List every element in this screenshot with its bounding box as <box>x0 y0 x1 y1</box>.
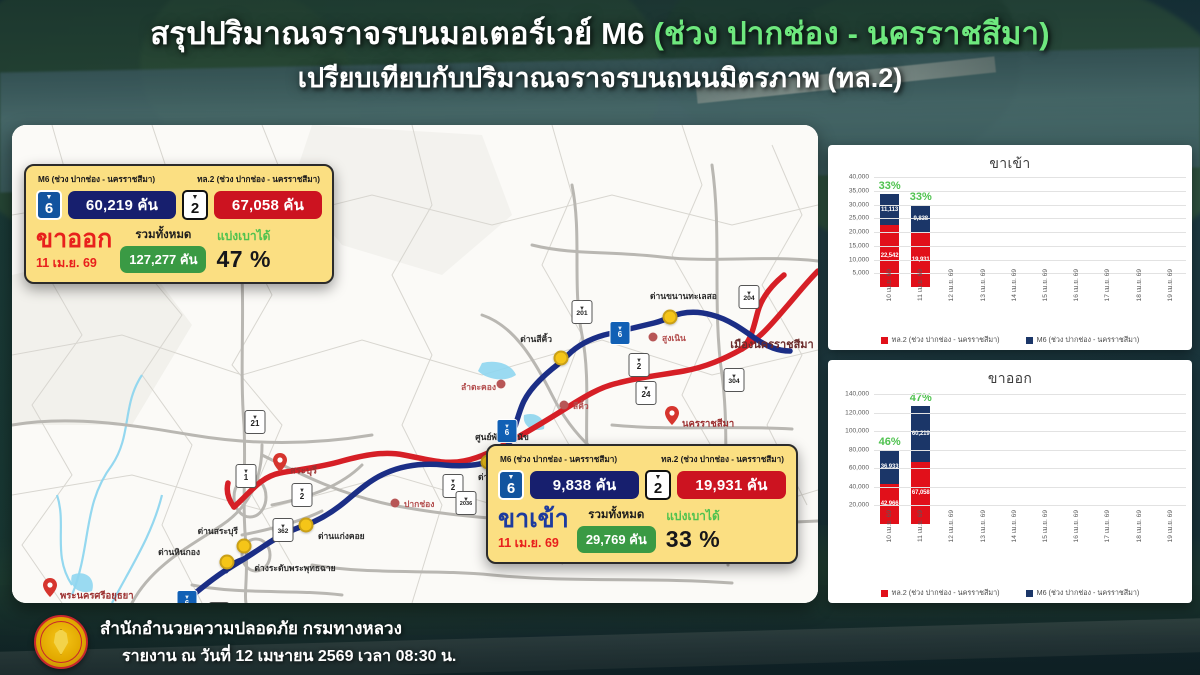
legend-label: M6 (ช่วง ปากช่อง - นครราชสีมา) <box>1037 588 1140 599</box>
y-tick-label: 25,000 <box>849 215 869 222</box>
y-tick-label: 5,000 <box>852 270 869 277</box>
y-tick-label: 10,000 <box>849 256 869 263</box>
route-shield-1: ▼1 <box>236 464 257 488</box>
y-tick-label: 40,000 <box>849 483 869 490</box>
x-tick-label: 15 เม.ย. 69 <box>1036 510 1055 547</box>
legend-item-h2: ทล.2 (ช่วง ปากช่อง - นครราชสีมา) <box>881 335 1000 346</box>
page-title: สรุปปริมาณจราจรบนมอเตอร์เวย์ M6 (ช่วง ปา… <box>0 14 1200 55</box>
agency-name: สำนักอำนวยความปลอดภัย กรมทางหลวง <box>100 615 456 642</box>
x-tick-label: 18 เม.ย. 69 <box>1130 269 1149 306</box>
outbound-chart-panel[interactable]: ขาออก 20,00040,00060,00080,000100,000120… <box>828 360 1192 603</box>
card-head-h2: ทล.2 (ช่วง ปากช่อง - นครราชสีมา) <box>197 173 320 186</box>
y-tick-label: 60,000 <box>849 465 869 472</box>
y-tick-label: 30,000 <box>849 201 869 208</box>
bar-value-label: 11,113 <box>881 207 898 213</box>
relief-label: แบ่งเบาได้ <box>666 507 720 526</box>
gridline <box>874 468 1186 469</box>
toll-node[interactable] <box>299 518 314 533</box>
toll-node[interactable] <box>554 351 569 366</box>
legend-swatch-red <box>881 337 888 344</box>
x-tick-label: 17 เม.ย. 69 <box>1099 269 1118 306</box>
direction-date: 11 เม.ย. 69 <box>36 253 112 273</box>
page-header: สรุปปริมาณจราจรบนมอเตอร์เวย์ M6 (ช่วง ปา… <box>0 14 1200 97</box>
direction-label: ขาเข้า <box>498 507 569 533</box>
route-shield-201: ▼201 <box>572 300 593 324</box>
x-tick-label: 16 เม.ย. 69 <box>1067 510 1086 547</box>
legend-swatch-red <box>881 590 888 597</box>
relief-value: 33 % <box>666 526 720 553</box>
gridline <box>874 232 1186 233</box>
y-tick-label: 15,000 <box>849 242 869 249</box>
route-shield-2036: ▼2036 <box>456 491 477 515</box>
city-label: ปากช่อง <box>404 497 434 511</box>
title-accent: (ช่วง ปากช่อง - นครราชสีมา) <box>653 16 1049 51</box>
x-tick-label: 11 เม.ย. 69 <box>911 269 930 306</box>
gridline <box>874 191 1186 192</box>
report-timestamp: รายงาน ณ วันที่ 12 เมษายน 2569 เวลา 08:3… <box>100 644 456 669</box>
total-value: 29,769 คัน <box>577 526 656 553</box>
toll-node[interactable] <box>663 310 678 325</box>
city-dot <box>560 401 569 410</box>
y-tick-label: 140,000 <box>845 391 869 398</box>
gridline <box>874 431 1186 432</box>
title-main: สรุปปริมาณจราจรบนมอเตอร์เวย์ M6 <box>150 16 653 51</box>
bar-percent-annotation: 33% <box>910 191 932 203</box>
legend-label: M6 (ช่วง ปากช่อง - นครราชสีมา) <box>1037 335 1140 346</box>
m6-shield-icon: ▼6 <box>498 470 524 500</box>
route-shield-204: ▼204 <box>739 285 760 309</box>
gridline <box>874 505 1186 506</box>
chart-title: ขาออก <box>828 360 1192 390</box>
y-axis: 20,00040,00060,00080,000100,000120,00014… <box>828 394 872 524</box>
y-tick-label: 20,000 <box>849 229 869 236</box>
direction-block: ขาเข้า 11 เม.ย. 69 <box>498 507 569 554</box>
map-pin-icon[interactable] <box>273 453 287 477</box>
y-tick-label: 35,000 <box>849 187 869 194</box>
h2-shield-icon: ▼2 <box>645 470 671 500</box>
toll-label: ด่านขนานทะเลสอ <box>650 289 717 303</box>
x-tick-label: 18 เม.ย. 69 <box>1130 510 1149 547</box>
x-tick-label: 19 เม.ย. 69 <box>1161 269 1180 306</box>
gridline <box>874 218 1186 219</box>
city-dot <box>497 380 506 389</box>
legend-swatch-navy <box>1026 590 1033 597</box>
x-tick-label: 13 เม.ย. 69 <box>974 510 993 547</box>
total-label: รวมทั้งหมด <box>120 226 206 244</box>
m6-shield-icon: ▼6 <box>36 190 62 220</box>
toll-node[interactable] <box>237 539 252 554</box>
x-tick-label: 15 เม.ย. 69 <box>1036 269 1055 306</box>
pin-label: พระนครศรีอยุธยา <box>60 589 134 604</box>
total-block: รวมทั้งหมด 29,769 คัน <box>577 506 656 553</box>
route-shield-304: ▼304 <box>724 368 745 392</box>
gridline <box>874 260 1186 261</box>
h2-volume-value: 19,931 คัน <box>677 471 786 499</box>
pin-label: นครราชสีมา <box>682 417 734 432</box>
toll-label: ด่านสระบุรี <box>198 524 238 538</box>
korat-city-label: เมืองนครราชสีมา <box>730 335 813 353</box>
legend-swatch-navy <box>1026 337 1033 344</box>
toll-node[interactable] <box>220 555 235 570</box>
gridline <box>874 450 1186 451</box>
chart-title: ขาเข้า <box>828 145 1192 175</box>
card-header: M6 (ช่วง ปากช่อง - นครราชสีมา) ทล.2 (ช่ว… <box>498 453 786 470</box>
gridline <box>874 246 1186 247</box>
footer-text-block: สำนักอำนวยความปลอดภัย กรมทางหลวง รายงาน … <box>100 615 456 669</box>
m6-volume-value: 60,219 คัน <box>68 191 176 219</box>
route-shield-24: ▼24 <box>636 381 657 405</box>
inbound-summary-card: M6 (ช่วง ปากช่อง - นครราชสีมา) ทล.2 (ช่ว… <box>486 444 798 564</box>
x-tick-label: 10 เม.ย. 69 <box>880 510 899 547</box>
h2-volume-value: 67,058 คัน <box>214 191 322 219</box>
bar-segment-m6: 36,933 <box>880 450 899 484</box>
map-pin-icon[interactable] <box>665 406 679 430</box>
x-tick-label: 19 เม.ย. 69 <box>1161 510 1180 547</box>
y-tick-label: 100,000 <box>845 428 869 435</box>
legend-label: ทล.2 (ช่วง ปากช่อง - นครราชสีมา) <box>892 335 1000 346</box>
y-tick-label: 80,000 <box>849 446 869 453</box>
city-dot <box>649 333 658 342</box>
page-subtitle: เปรียบเทียบกับปริมาณจราจรบนถนนมิตรภาพ (ท… <box>0 61 1200 97</box>
legend-item-h2: ทล.2 (ช่วง ปากช่อง - นครราชสีมา) <box>881 588 1000 599</box>
x-tick-label: 12 เม.ย. 69 <box>943 269 962 306</box>
route-shield-m6: ▼6 <box>497 419 518 443</box>
gridline <box>874 205 1186 206</box>
x-tick-label: 11 เม.ย. 69 <box>911 510 930 547</box>
x-tick-label: 16 เม.ย. 69 <box>1067 269 1086 306</box>
gridline <box>874 487 1186 488</box>
map-pin-icon[interactable] <box>43 578 57 602</box>
x-tick-label: 14 เม.ย. 69 <box>1005 269 1024 306</box>
total-label: รวมทั้งหมด <box>577 506 656 524</box>
interchange-label: ต่างระดับพระพุทธฉาย <box>254 561 335 575</box>
gridline <box>874 394 1186 395</box>
m6-volume-value: 9,838 คัน <box>530 471 639 499</box>
y-tick-label: 120,000 <box>845 409 869 416</box>
relief-block: แบ่งเบาได้ 47 % <box>216 227 270 273</box>
legend-label: ทล.2 (ช่วง ปากช่อง - นครราชสีมา) <box>892 588 1000 599</box>
chart-legend: ทล.2 (ช่วง ปากช่อง - นครราชสีมา) M6 (ช่ว… <box>828 335 1192 346</box>
card-head-m6: M6 (ช่วง ปากช่อง - นครราชสีมา) <box>38 173 155 186</box>
relief-value: 47 % <box>216 246 270 273</box>
outbound-summary-card: M6 (ช่วง ปากช่อง - นครราชสีมา) ทล.2 (ช่ว… <box>24 164 334 284</box>
legend-item-m6: M6 (ช่วง ปากช่อง - นครราชสีมา) <box>1026 588 1140 599</box>
direction-block: ขาออก 11 เม.ย. 69 <box>36 227 112 274</box>
legend-item-m6: M6 (ช่วง ปากช่อง - นครราชสีมา) <box>1026 335 1140 346</box>
route-shield-1: ▼1 <box>209 602 230 603</box>
gridline <box>874 413 1186 414</box>
bar-segment-m6: 11,113 <box>880 194 899 225</box>
y-axis: 5,00010,00015,00020,00025,00030,00035,00… <box>828 177 872 287</box>
bar-value-label: 67,058 <box>912 490 930 496</box>
y-tick-label: 20,000 <box>849 502 869 509</box>
page-footer: สำนักอำนวยความปลอดภัย กรมทางหลวง รายงาน … <box>0 615 1200 669</box>
y-tick-label: 40,000 <box>849 174 869 181</box>
city-label: สีคิ้ว <box>573 399 589 413</box>
card-bottom-row: ขาออก 11 เม.ย. 69 รวมทั้งหมด 127,277 คัน… <box>36 226 322 273</box>
route-shield-m6: ▼6 <box>610 321 631 345</box>
direction-date: 11 เม.ย. 69 <box>498 533 569 553</box>
route-shield-2: ▼2 <box>629 353 650 377</box>
x-tick-label: 12 เม.ย. 69 <box>943 510 962 547</box>
pin-label: สระบุรี <box>290 464 317 479</box>
card-value-row: ▼6 60,219 คัน ▼2 67,058 คัน <box>36 190 322 220</box>
relief-block: แบ่งเบาได้ 33 % <box>666 507 720 553</box>
route-shield-2: ▼2 <box>292 483 313 507</box>
total-value: 127,277 คัน <box>120 246 206 273</box>
h2-shield-icon: ▼2 <box>182 190 208 220</box>
card-value-row: ▼6 9,838 คัน ▼2 19,931 คัน <box>498 470 786 500</box>
card-head-h2: ทล.2 (ช่วง ปากช่อง - นครราชสีมา) <box>661 453 784 466</box>
x-tick-label: 13 เม.ย. 69 <box>974 269 993 306</box>
route-shield-21: ▼21 <box>245 410 266 434</box>
direction-label: ขาออก <box>36 227 112 253</box>
relief-label: แบ่งเบาได้ <box>216 227 270 246</box>
gridline <box>874 177 1186 178</box>
card-header: M6 (ช่วง ปากช่อง - นครราชสีมา) ทล.2 (ช่ว… <box>36 173 322 190</box>
dept-seal-icon <box>34 615 88 669</box>
x-tick-label: 10 เม.ย. 69 <box>880 269 899 306</box>
bar-percent-annotation: 46% <box>879 436 901 448</box>
x-tick-label: 14 เม.ย. 69 <box>1005 510 1024 547</box>
toll-label: ด่านหินกอง <box>158 545 200 559</box>
route-shield-362: ▼362 <box>273 518 294 542</box>
route-shield-m6: ▼6 <box>177 590 198 603</box>
inbound-chart-panel[interactable]: ขาเข้า 5,00010,00015,00020,00025,00030,0… <box>828 145 1192 350</box>
x-tick-label: 17 เม.ย. 69 <box>1099 510 1118 547</box>
city-label: สูงเนิน <box>662 331 686 345</box>
toll-label: ด่านแก่งคอย <box>318 529 365 543</box>
x-axis: 10 เม.ย. 6911 เม.ย. 6912 เม.ย. 6913 เม.ย… <box>874 269 1186 331</box>
x-axis: 10 เม.ย. 6911 เม.ย. 6912 เม.ย. 6913 เม.ย… <box>874 510 1186 572</box>
card-bottom-row: ขาเข้า 11 เม.ย. 69 รวมทั้งหมด 29,769 คัน… <box>498 506 786 553</box>
city-dot <box>391 499 400 508</box>
toll-label: ด่านสีคิ้ว <box>520 332 552 346</box>
card-head-m6: M6 (ช่วง ปากช่อง - นครราชสีมา) <box>500 453 617 466</box>
bar-segment-m6: 60,219 <box>911 406 930 462</box>
city-label: ลำตะคอง <box>461 380 496 394</box>
bar-value-label: 22,542 <box>881 253 899 259</box>
chart-legend: ทล.2 (ช่วง ปากช่อง - นครราชสีมา) M6 (ช่ว… <box>828 588 1192 599</box>
total-block: รวมทั้งหมด 127,277 คัน <box>120 226 206 273</box>
